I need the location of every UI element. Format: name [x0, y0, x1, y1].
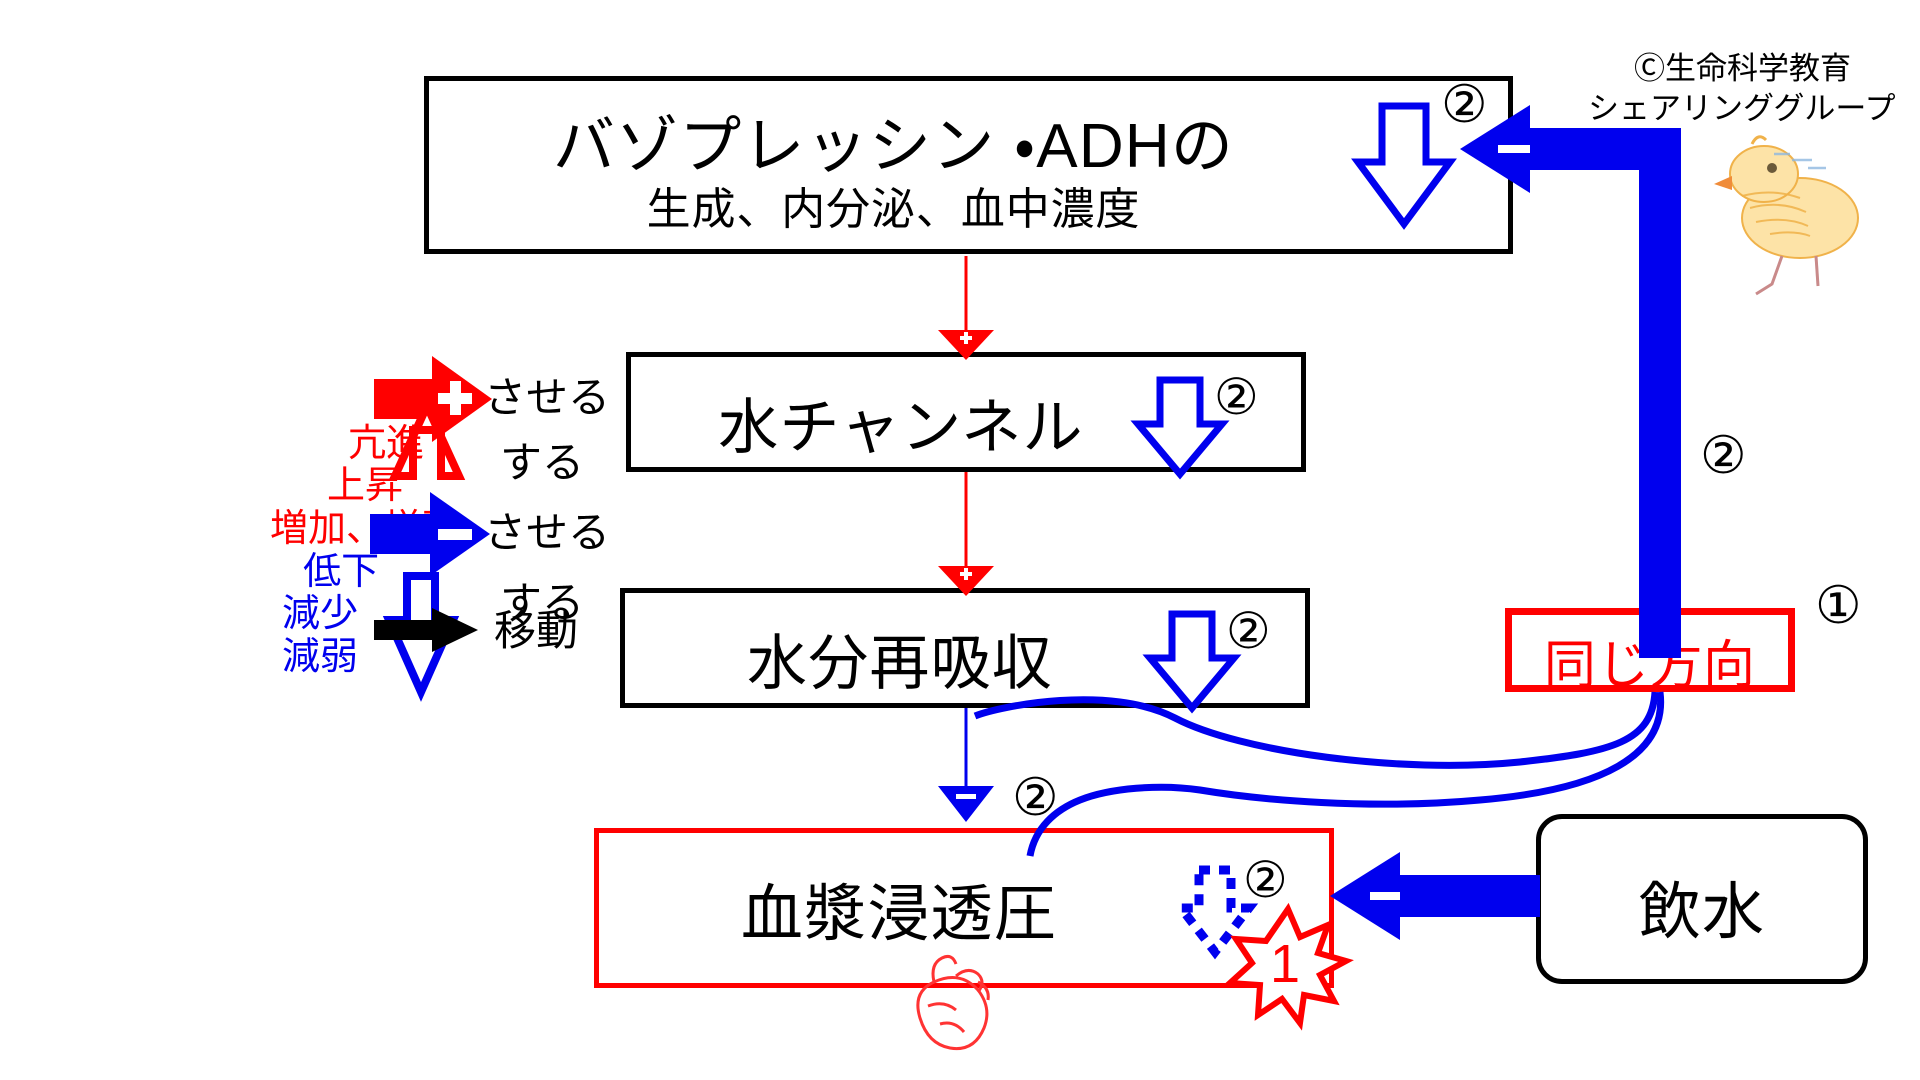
box-adh-badge: ② [1441, 79, 1488, 131]
box-drinking-water[interactable]: 飲水 [1536, 814, 1868, 984]
box-adh-line1: バゾプレッシン ・ADHの [429, 95, 1508, 185]
box-adh-line2: 生成、内分泌、血中濃度 [429, 173, 1508, 237]
box-plasma-osmolality-title: 血漿浸透圧 [599, 863, 1329, 953]
box-water-channel[interactable]: 水チャンネル [626, 352, 1306, 472]
reabsorption-connector-badge: ② [1012, 772, 1059, 824]
credit-line-2: シェアリンググループ [1588, 92, 1896, 125]
connector-channel-to-reabsorption [938, 472, 994, 596]
box-water-reabsorption[interactable]: 水分再吸収 [620, 588, 1310, 708]
burst-number: 1 [1270, 935, 1300, 993]
legend-blue-down-arrow-icon [389, 576, 453, 692]
box-plasma-osmolality[interactable]: 血漿浸透圧 [594, 828, 1334, 988]
legend-terms-down: 低下減少減弱 [250, 508, 390, 721]
credit-line-1: Ⓒ生命科学教育 [1634, 52, 1851, 85]
box-water-channel-title: 水チャンネル [631, 379, 1301, 466]
legend-terms-down-text: 低下減少減弱 [282, 551, 379, 678]
box-water-channel-badge: ② [1214, 372, 1259, 422]
legend-label-saseru-1: させる [484, 375, 610, 420]
box-water-reabsorption-title: 水分再吸収 [625, 615, 1305, 702]
box-adh[interactable]: バゾプレッシン ・ADHの 生成、内分泌、血中濃度 [424, 76, 1513, 254]
box-same-direction-badge: ① [1815, 580, 1862, 632]
box-same-direction[interactable]: 同じ方向 [1505, 608, 1795, 692]
box-plasma-osmolality-badge: ② [1243, 855, 1288, 905]
connector-adh-to-channel [938, 256, 994, 360]
connector-reabsorption-to-osmolality [938, 708, 994, 822]
legend-label-suru-1: する [500, 440, 584, 485]
legend-label-saseru-2: させる [484, 510, 610, 555]
box-drinking-water-title: 飲水 [1541, 861, 1863, 951]
box-water-reabsorption-badge: ② [1226, 606, 1271, 656]
feedback-badge: ② [1700, 430, 1747, 482]
connector-drinking-to-osmolality [1330, 852, 1540, 940]
legend-label-idou: 移動 [494, 608, 578, 653]
diagram-canvas: Ⓒ生命科学教育 シェアリンググループ バゾプレッシン ・ADHの 生成、内分泌、… [0, 0, 1920, 1080]
box-same-direction-title: 同じ方向 [1512, 623, 1788, 698]
